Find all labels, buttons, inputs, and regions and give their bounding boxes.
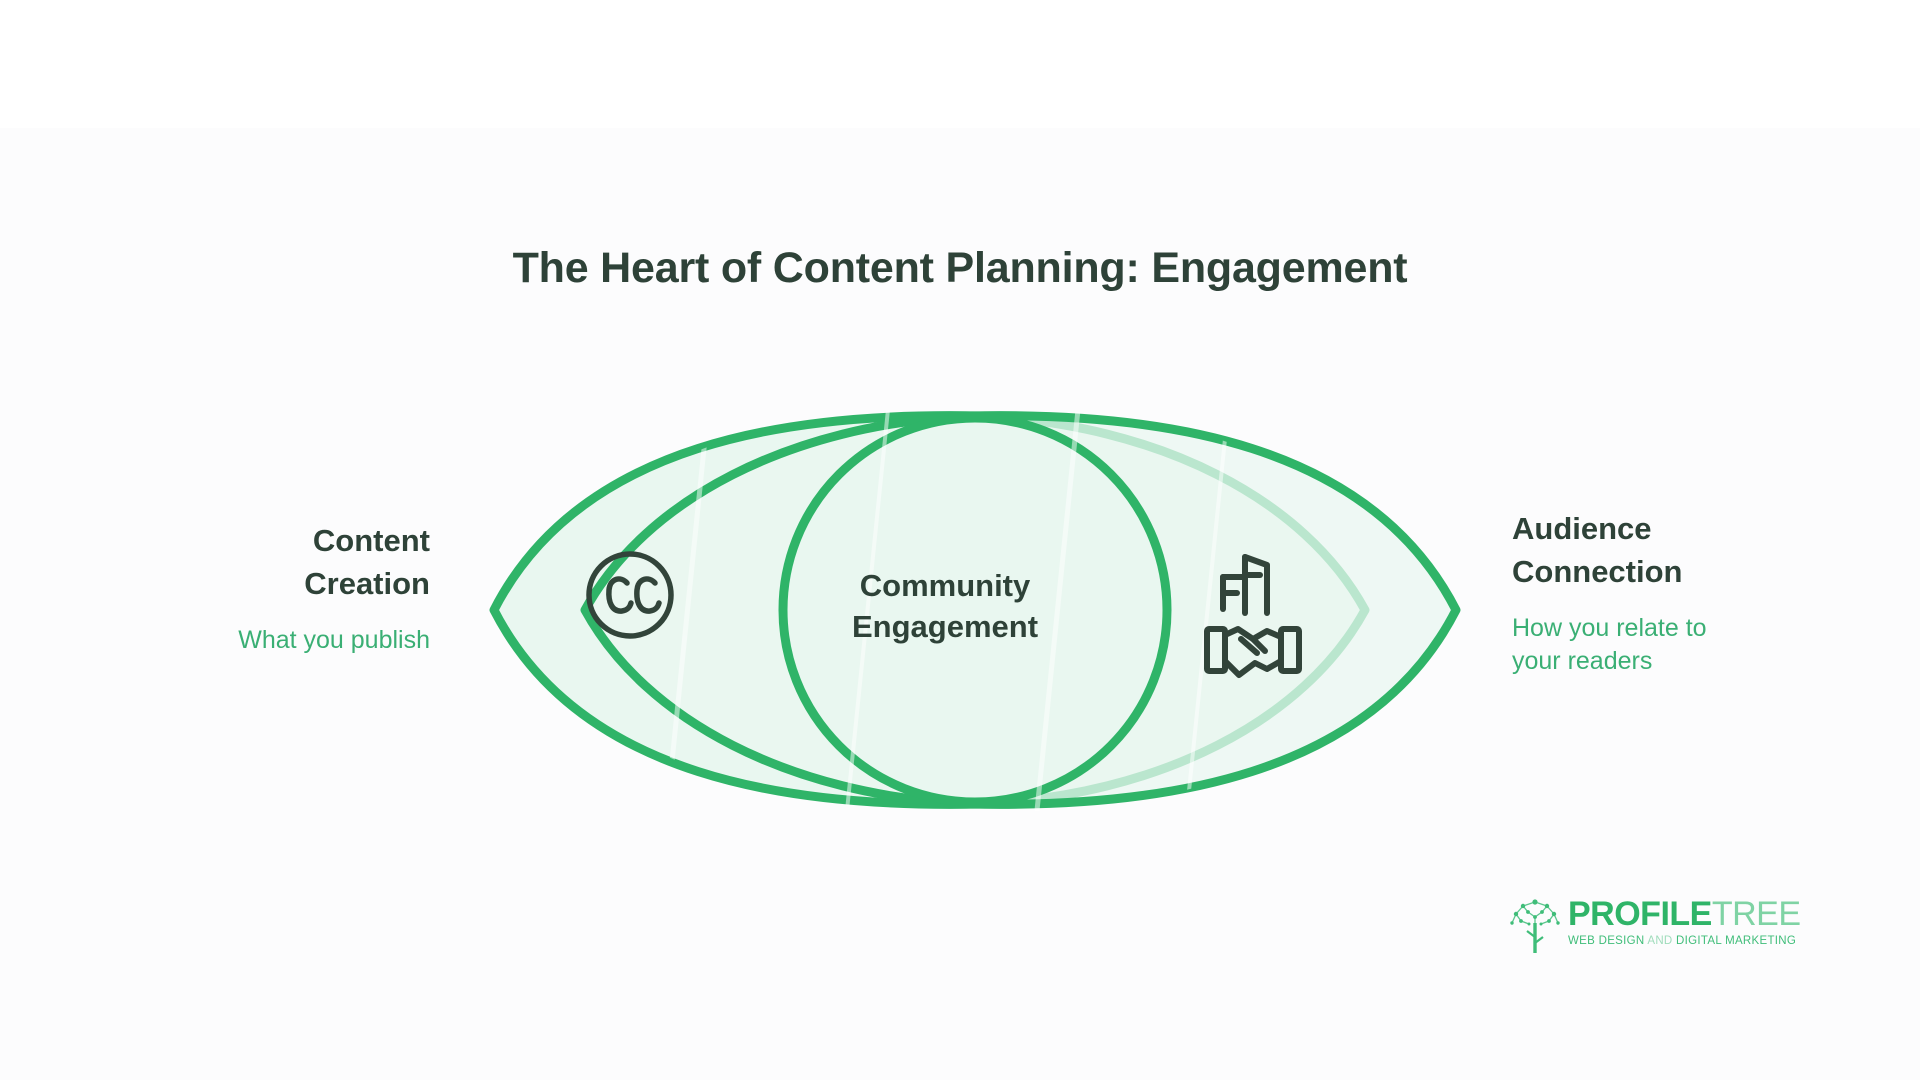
infographic-canvas: The Heart of Content Planning: Engagemen… [0, 0, 1920, 1080]
left-title: Content Creation [60, 520, 430, 606]
tagline-mid: AND [1644, 935, 1676, 947]
right-subtitle-line1: How you relate to [1512, 612, 1892, 646]
logo-word-primary: PROFILE [1568, 895, 1712, 933]
tagline-secondary: DIGITAL MARKETING [1676, 935, 1796, 947]
left-subtitle: What you publish [60, 624, 430, 658]
venn-diagram-svg [460, 390, 1490, 830]
profiletree-logo: PROFILETREE WEB DESIGN AND DIGITAL MARKE… [1508, 893, 1801, 955]
tree-icon [1508, 893, 1562, 955]
right-title: Audience Connection [1512, 508, 1892, 594]
logo-word-secondary: TREE [1712, 895, 1801, 933]
tagline-primary: WEB DESIGN [1568, 935, 1644, 947]
left-label-block: Content Creation What you publish [60, 520, 430, 657]
right-label-block: Audience Connection How you relate to yo… [1512, 508, 1892, 679]
right-subtitle-line2: your readers [1512, 645, 1892, 679]
logo-text: PROFILETREE WEB DESIGN AND DIGITAL MARKE… [1568, 893, 1801, 948]
venn-diagram [460, 390, 1490, 830]
logo-tagline: WEB DESIGN AND DIGITAL MARKETING [1568, 936, 1801, 948]
left-title-line1: Content [60, 520, 430, 563]
page-title: The Heart of Content Planning: Engagemen… [0, 243, 1920, 295]
right-title-line1: Audience [1512, 508, 1892, 551]
right-subtitle: How you relate to your readers [1512, 612, 1892, 680]
logo-wordmark: PROFILETREE [1568, 897, 1801, 931]
right-title-line2: Connection [1512, 551, 1892, 594]
center-circle-shape [783, 418, 1167, 802]
left-title-line2: Creation [60, 563, 430, 606]
